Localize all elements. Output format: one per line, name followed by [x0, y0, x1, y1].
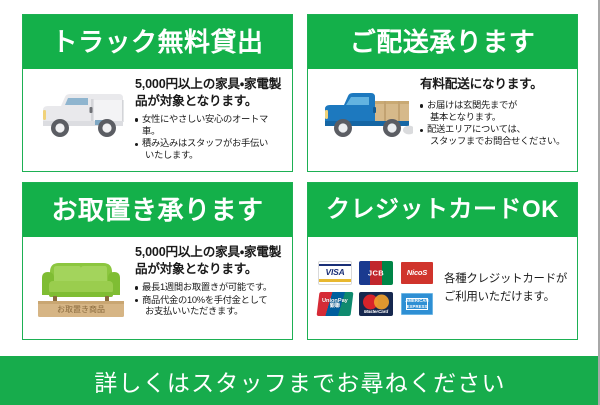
- bullet-main: 商品代金の10%を手付金として: [142, 295, 267, 305]
- panel-delivery-service: ご配送承ります: [307, 14, 578, 172]
- panel-bullet-list: お届けは玄関先までが 基本となります。 配送エリアについては、 スタッフまでお問…: [420, 100, 569, 148]
- panel-header-delivery-service: ご配送承ります: [308, 15, 577, 69]
- panel-copy-layaway-service: 5,000円以上の家具・家電製品が対象となります。 最長1週間お取置きが可能です…: [135, 244, 286, 319]
- panel-title: ご配送承ります: [350, 29, 536, 55]
- panel-header-truck-free-rental: トラック無料貸出: [23, 15, 292, 69]
- unionpay-card-logo: UnionPay 銀聯: [317, 292, 354, 316]
- panel-lead: 有料配送になります。: [420, 76, 569, 93]
- green-sofa-icon: お取置き商品: [29, 244, 133, 324]
- mastercard-card-logo: MasterCard: [359, 292, 393, 316]
- panel-header-layaway-service: お取置き承ります: [23, 183, 292, 237]
- panel-body-layaway-service: お取置き商品 5,000円以上の家具・家電製品が対象となります。 最長1週間お取…: [23, 237, 292, 339]
- bullet-continuation: お支払いいただきます。: [142, 306, 284, 318]
- list-item: 最長1週間お取置きが可能です。: [135, 282, 284, 294]
- visa-card-logo: VISA: [318, 261, 352, 285]
- panel-copy-truck-free-rental: 5,000円以上の家具・家電製品が対象となります。 女性にやさしい安心のオートマ…: [135, 76, 286, 163]
- amex-box: AMERICAN EXPRESS: [406, 298, 428, 310]
- bullet-main: 積み込みはスタッフがお手伝い: [142, 138, 268, 148]
- credit-card-copy: 各種クレジットカードがご利用いただけます。: [442, 270, 569, 307]
- mastercard-label: MasterCard: [359, 309, 393, 314]
- panel-grid: トラック無料貸出: [22, 14, 578, 340]
- panel-body-truck-free-rental: 5,000円以上の家具・家電製品が対象となります。 女性にやさしい安心のオートマ…: [23, 69, 292, 171]
- unionpay-label-group: UnionPay 銀聯: [322, 297, 348, 309]
- panel-body-delivery-service: 有料配送になります。 お届けは玄関先までが 基本となります。 配送エリアについて…: [308, 69, 577, 171]
- bullet-main: 女性にやさしい安心のオートマ車。: [142, 114, 268, 136]
- unionpay-sublabel: 銀聯: [322, 304, 348, 310]
- panel-credit-card-ok: クレジットカードOK VISA JCB: [307, 182, 578, 340]
- visa-bottom-bar: [319, 279, 351, 282]
- list-item: お届けは玄関先までが 基本となります。: [420, 100, 569, 124]
- list-item: 女性にやさしい安心のオートマ車。: [135, 114, 284, 138]
- visa-top-bar: [319, 264, 351, 266]
- panel-body-credit-card-ok: VISA JCB NicoS UnionPay: [308, 237, 577, 339]
- bullet-continuation: 基本となります。: [427, 112, 569, 124]
- panel-title: お取置き承ります: [51, 197, 263, 223]
- list-item: 商品代金の10%を手付金として お支払いいただきます。: [135, 295, 284, 319]
- jcb-card-logo: JCB: [359, 261, 393, 285]
- panel-lead: 5,000円以上の家具・家電製品が対象となります。: [135, 244, 284, 278]
- panel-header-credit-card-ok: クレジットカードOK: [308, 183, 577, 237]
- panel-truck-free-rental: トラック無料貸出: [22, 14, 293, 172]
- bullet-main: 配送エリアについては、: [427, 124, 526, 134]
- panel-title: クレジットカードOK: [326, 198, 559, 222]
- panel-bullet-list: 最長1週間お取置きが可能です。 商品代金の10%を手付金として お支払いいただき…: [135, 282, 284, 318]
- bullet-main: 最長1週間お取置きが可能です。: [142, 282, 272, 292]
- credit-card-logo-grid: VISA JCB NicoS UnionPay: [318, 261, 434, 316]
- panel-title: トラック無料貸出: [51, 29, 263, 55]
- footer-banner: 詳しくはスタッフまでお尋ねください: [0, 356, 600, 405]
- nicos-label: NicoS: [407, 268, 427, 277]
- amex-sublabel: EXPRESS: [407, 304, 427, 309]
- sofa-tag-label: お取置き商品: [57, 304, 105, 314]
- white-kei-truck-icon: [29, 76, 133, 144]
- visa-label: VISA: [325, 268, 344, 277]
- nicos-card-logo: NicoS: [400, 261, 434, 285]
- panel-bullet-list: 女性にやさしい安心のオートマ車。 積み込みはスタッフがお手伝い いたします。: [135, 114, 284, 162]
- panel-copy-delivery-service: 有料配送になります。 お届けは玄関先までが 基本となります。 配送エリアについて…: [420, 76, 571, 149]
- promotional-poster: トラック無料貸出: [0, 0, 600, 405]
- panel-lead: 5,000円以上の家具・家電製品が対象となります。: [135, 76, 284, 110]
- amex-card-logo: AMERICAN EXPRESS: [400, 292, 434, 316]
- mastercard-circles: [363, 295, 389, 310]
- panel-layaway-service: お取置き承ります お取: [22, 182, 293, 340]
- bullet-continuation: スタッフまでお問合せください。: [427, 136, 569, 148]
- blue-delivery-truck-icon: [314, 76, 418, 146]
- footer-banner-text: 詳しくはスタッフまでお尋ねください: [94, 364, 505, 398]
- bullet-continuation: いたします。: [142, 150, 284, 162]
- list-item: 積み込みはスタッフがお手伝い いたします。: [135, 138, 284, 162]
- list-item: 配送エリアについては、 スタッフまでお問合せください。: [420, 124, 569, 148]
- bullet-main: お届けは玄関先までが: [427, 100, 517, 110]
- jcb-label: JCB: [359, 268, 393, 277]
